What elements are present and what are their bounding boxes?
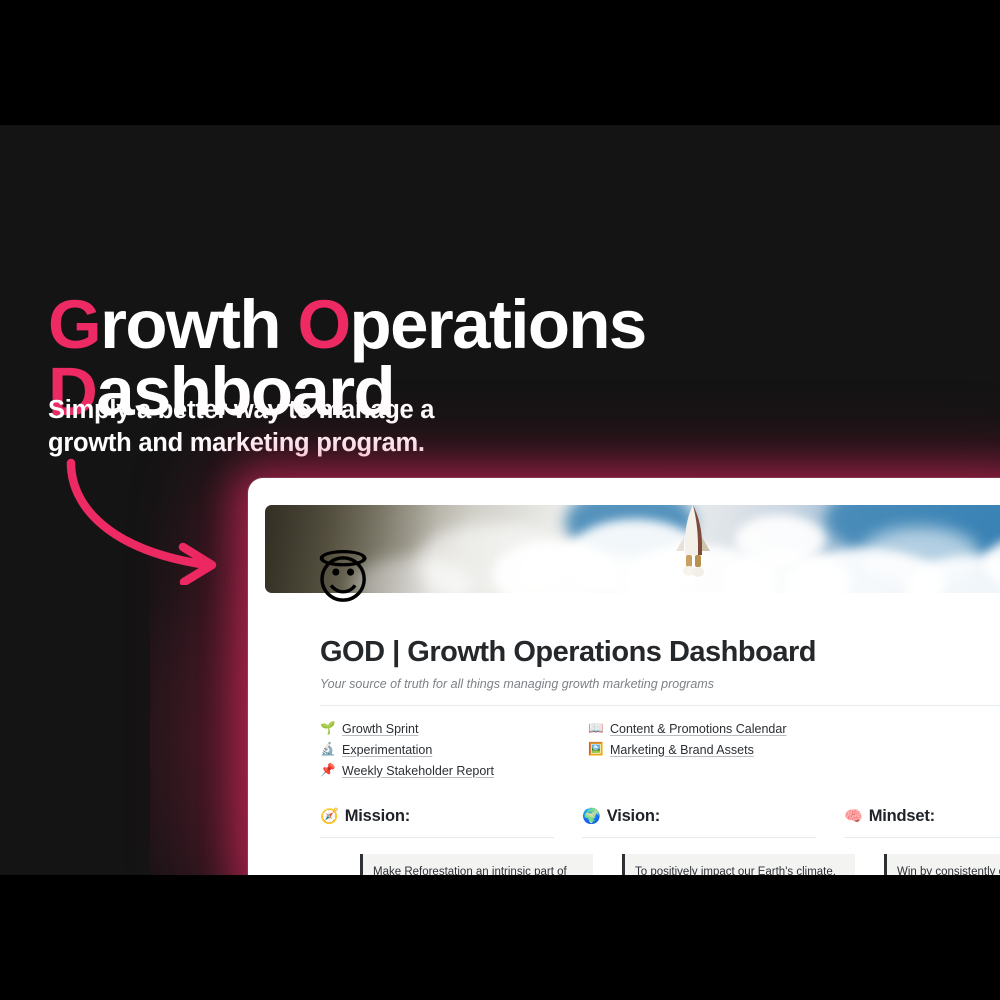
space-shuttle-icon: [663, 505, 723, 577]
seedling-icon: 🌱: [320, 722, 335, 735]
link-experimentation[interactable]: 🔬 Experimentation: [320, 739, 588, 760]
link-label: Content & Promotions Calendar: [610, 722, 786, 736]
section-mindset: 🧠 Mindset: Win by consistently outlearni…: [844, 807, 1000, 875]
link-label: Weekly Stakeholder Report: [342, 764, 494, 778]
content-band: Growth OperationsDashboard Simply a bett…: [0, 125, 1000, 875]
pushpin-icon: 📌: [320, 764, 335, 777]
section-heading-label: Mission:: [345, 807, 410, 826]
quote-text: To positively impact our Earth's climate…: [635, 863, 845, 875]
document-subtitle: Your source of truth for all things mana…: [320, 677, 1000, 691]
section-heading-label: Vision:: [607, 807, 660, 826]
quote-text: Make Reforestation an intrinsic part of …: [373, 863, 583, 875]
compass-icon: 🧭: [320, 809, 339, 824]
globe-icon: 🌍: [582, 809, 601, 824]
document-body: GOD | Growth Operations Dashboard Your s…: [320, 636, 1000, 875]
page-emoji[interactable]: 😇: [316, 555, 370, 607]
link-label: Marketing & Brand Assets: [610, 743, 754, 757]
brain-icon: 🧠: [844, 809, 863, 824]
document-cover-image[interactable]: [265, 505, 1000, 593]
quote-text: Win by consistently outlearning the comp…: [897, 863, 1000, 875]
link-growth-sprint[interactable]: 🌱 Growth Sprint: [320, 718, 588, 739]
section-heading: 🌍 Vision:: [582, 807, 844, 826]
section-mission: 🧭 Mission: Make Reforestation an intrins…: [320, 807, 582, 875]
divider: [582, 837, 816, 838]
section-heading: 🧭 Mission:: [320, 807, 582, 826]
section-heading-label: Mindset:: [869, 807, 935, 826]
section-heading: 🧠 Mindset:: [844, 807, 1000, 826]
document-card[interactable]: 😇 GOD | Growth Operations Dashboard Your…: [248, 478, 1000, 875]
mission-quote: Make Reforestation an intrinsic part of …: [360, 854, 593, 875]
mindset-quote: Win by consistently outlearning the comp…: [884, 854, 1000, 875]
divider: [320, 837, 554, 838]
letterbox-top: [0, 0, 1000, 125]
link-weekly-stakeholder-report[interactable]: 📌 Weekly Stakeholder Report: [320, 760, 588, 781]
section-vision: 🌍 Vision: To positively impact our Earth…: [582, 807, 844, 875]
divider: [844, 837, 1000, 838]
page-subtitle: Simply a better way to manage a growth a…: [48, 394, 518, 462]
quick-links-left-column: 🌱 Growth Sprint 🔬 Experimentation 📌 Week…: [320, 718, 588, 781]
open-book-icon: 📖: [588, 722, 603, 735]
link-marketing-brand-assets[interactable]: 🖼️ Marketing & Brand Assets: [588, 739, 1000, 760]
document-title: GOD | Growth Operations Dashboard: [320, 636, 1000, 669]
framed-picture-icon: 🖼️: [588, 743, 603, 756]
vision-quote: To positively impact our Earth's climate…: [622, 854, 855, 875]
quick-links: 🌱 Growth Sprint 🔬 Experimentation 📌 Week…: [320, 718, 1000, 781]
statement-sections: 🧭 Mission: Make Reforestation an intrins…: [320, 807, 1000, 875]
curved-arrow-icon: [55, 455, 235, 585]
divider: [320, 705, 1000, 706]
link-content-promotions-calendar[interactable]: 📖 Content & Promotions Calendar: [588, 718, 1000, 739]
link-label: Growth Sprint: [342, 722, 418, 736]
letterbox-bottom: [0, 875, 1000, 1000]
link-label: Experimentation: [342, 743, 432, 757]
slide-root: Growth OperationsDashboard Simply a bett…: [0, 0, 1000, 1000]
microscope-icon: 🔬: [320, 743, 335, 756]
quick-links-right-column: 📖 Content & Promotions Calendar 🖼️ Marke…: [588, 718, 1000, 781]
